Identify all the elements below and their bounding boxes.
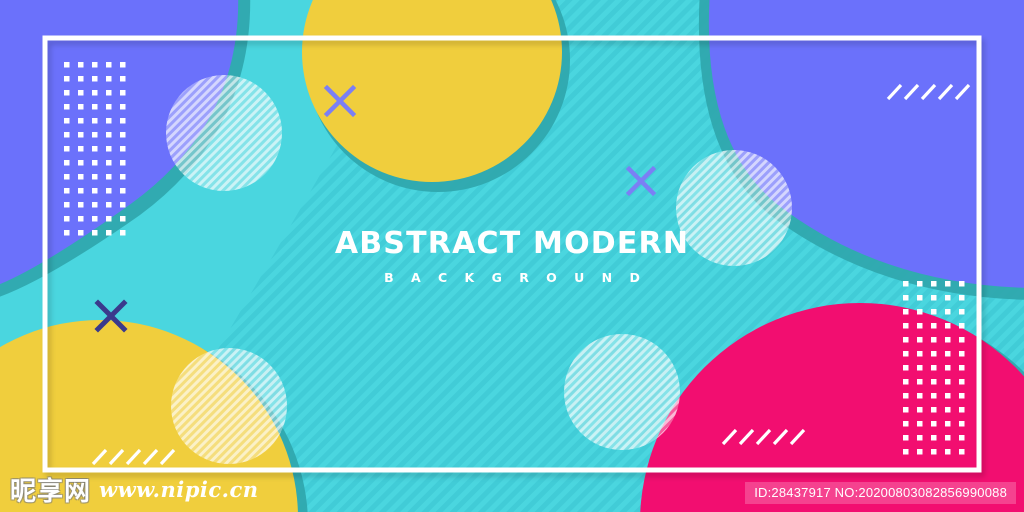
dot <box>931 337 937 343</box>
dot <box>78 76 84 82</box>
dot <box>92 146 98 152</box>
dot <box>945 295 951 301</box>
watermark-id-badge: ID:28437917 NO:20200803082856990088 <box>745 482 1016 504</box>
dot <box>120 132 126 138</box>
dot <box>120 174 126 180</box>
dot <box>917 281 923 287</box>
dot <box>92 76 98 82</box>
dot <box>78 146 84 152</box>
dot <box>64 174 70 180</box>
dot <box>959 407 965 413</box>
nipic-logo: 昵享网 <box>10 471 91 508</box>
dot <box>78 90 84 96</box>
dot <box>917 365 923 371</box>
dot <box>903 309 909 315</box>
dot <box>945 379 951 385</box>
dot <box>64 202 70 208</box>
dot <box>931 281 937 287</box>
dot <box>945 393 951 399</box>
dot <box>945 365 951 371</box>
dot <box>78 132 84 138</box>
dot <box>106 216 112 222</box>
circle-striped-left <box>166 75 282 191</box>
dot <box>78 188 84 194</box>
dot <box>931 323 937 329</box>
dot <box>78 62 84 68</box>
dot <box>106 146 112 152</box>
dot <box>917 407 923 413</box>
dot <box>903 449 909 455</box>
dot <box>78 160 84 166</box>
dot <box>959 337 965 343</box>
dot <box>931 449 937 455</box>
dot <box>959 295 965 301</box>
dot <box>92 202 98 208</box>
circle-striped-bottom-center <box>564 334 680 450</box>
dot <box>903 323 909 329</box>
dot <box>959 421 965 427</box>
dot <box>959 449 965 455</box>
dot <box>903 421 909 427</box>
dot <box>959 435 965 441</box>
dot <box>106 104 112 110</box>
dot <box>903 365 909 371</box>
dot <box>120 230 126 236</box>
dot <box>917 351 923 357</box>
dot <box>92 230 98 236</box>
dot <box>903 295 909 301</box>
dot <box>92 188 98 194</box>
dot <box>959 379 965 385</box>
circle-striped-right <box>676 150 792 266</box>
dot <box>64 76 70 82</box>
dot <box>64 62 70 68</box>
dot <box>931 351 937 357</box>
dot <box>917 309 923 315</box>
dot <box>64 104 70 110</box>
dot <box>959 393 965 399</box>
dot <box>92 216 98 222</box>
watermark-url: www.nipic.cn <box>99 477 259 502</box>
dot <box>917 393 923 399</box>
dot <box>917 435 923 441</box>
dot <box>903 351 909 357</box>
dot <box>92 104 98 110</box>
dot <box>903 407 909 413</box>
watermark-left: 昵享网 www.nipic.cn <box>10 471 259 508</box>
dot <box>120 118 126 124</box>
dot <box>64 160 70 166</box>
dot <box>903 435 909 441</box>
dot <box>931 393 937 399</box>
dot <box>917 449 923 455</box>
dot <box>931 295 937 301</box>
dot <box>120 104 126 110</box>
dot <box>959 323 965 329</box>
dot <box>931 421 937 427</box>
dot <box>64 132 70 138</box>
dot <box>945 337 951 343</box>
dot <box>945 407 951 413</box>
dot <box>945 449 951 455</box>
dot <box>945 281 951 287</box>
dot <box>903 379 909 385</box>
dot <box>92 160 98 166</box>
dot <box>917 295 923 301</box>
dot <box>959 365 965 371</box>
dot <box>120 90 126 96</box>
dot <box>64 216 70 222</box>
dot <box>931 309 937 315</box>
dot <box>106 202 112 208</box>
dot <box>78 104 84 110</box>
dot <box>120 62 126 68</box>
dot <box>92 90 98 96</box>
dot <box>120 160 126 166</box>
dot <box>917 337 923 343</box>
dot <box>106 76 112 82</box>
abstract-background-canvas: ABSTRACT MODERN B A C K G R O U N D 昵享网 … <box>0 0 1024 512</box>
dot <box>64 118 70 124</box>
dot <box>931 379 937 385</box>
dot <box>931 435 937 441</box>
dot <box>945 435 951 441</box>
dot <box>959 281 965 287</box>
dot <box>945 323 951 329</box>
dot <box>931 407 937 413</box>
dot <box>106 132 112 138</box>
dot <box>106 160 112 166</box>
dot <box>120 146 126 152</box>
dot <box>78 174 84 180</box>
dot <box>106 62 112 68</box>
dot <box>78 230 84 236</box>
dot <box>78 118 84 124</box>
dot <box>917 421 923 427</box>
dot <box>92 118 98 124</box>
dot <box>945 421 951 427</box>
dot <box>64 188 70 194</box>
dot <box>945 309 951 315</box>
dot <box>959 309 965 315</box>
dot <box>64 90 70 96</box>
dot <box>120 202 126 208</box>
dot <box>945 351 951 357</box>
dot <box>903 393 909 399</box>
dot <box>106 188 112 194</box>
dot <box>120 76 126 82</box>
dot <box>92 174 98 180</box>
dot <box>64 230 70 236</box>
dot <box>120 216 126 222</box>
dot <box>92 62 98 68</box>
dot <box>931 365 937 371</box>
dot <box>106 230 112 236</box>
dot <box>64 146 70 152</box>
artwork-layer <box>0 0 1024 512</box>
dot <box>917 379 923 385</box>
dot <box>959 351 965 357</box>
dot <box>903 281 909 287</box>
dot <box>78 202 84 208</box>
dot <box>120 188 126 194</box>
dot <box>92 132 98 138</box>
dot <box>106 90 112 96</box>
dot <box>903 337 909 343</box>
dot <box>106 174 112 180</box>
dot <box>78 216 84 222</box>
dot <box>106 118 112 124</box>
dot <box>917 323 923 329</box>
circle-striped-bottom-left <box>171 348 287 464</box>
